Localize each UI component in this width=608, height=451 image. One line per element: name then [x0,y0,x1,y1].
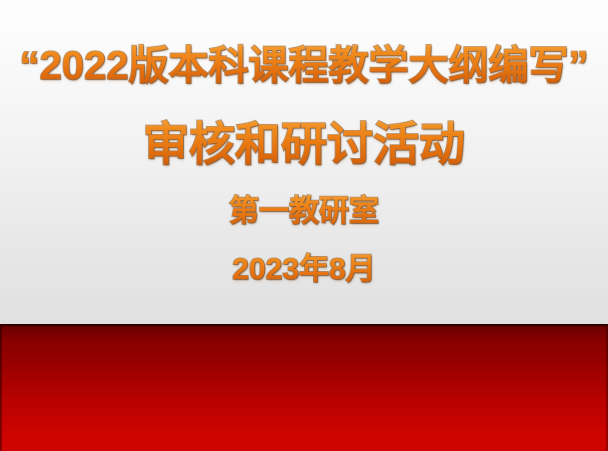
banner-left-edge [0,324,2,451]
presentation-slide: “2022版本科课程教学大纲编写” “2022版本科课程教学大纲编写” 审核和研… [0,0,608,451]
title-block: “2022版本科课程教学大纲编写” “2022版本科课程教学大纲编写” 审核和研… [0,0,608,324]
banner-top-edge [0,324,608,326]
title-line-1: “2022版本科课程教学大纲编写” [0,42,608,90]
title-line-2: 审核和研讨活动 [0,116,608,172]
bottom-red-banner [0,324,608,451]
subtitle: 第一教研室 [0,192,608,232]
date: 2023年8月 [0,250,608,290]
